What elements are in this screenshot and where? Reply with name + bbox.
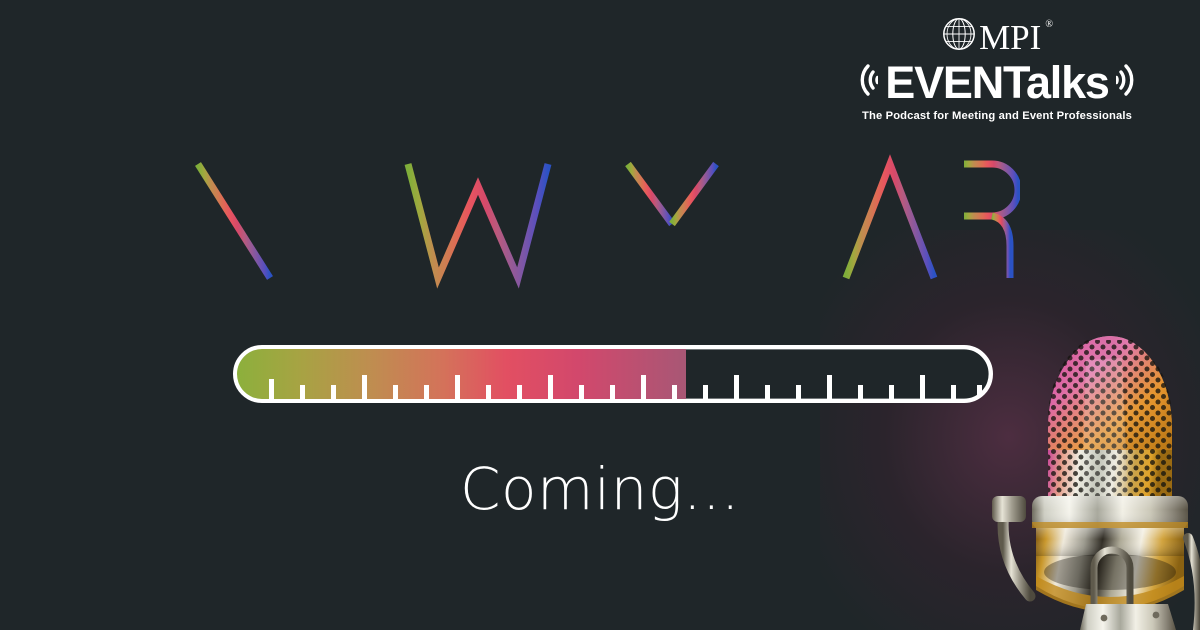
mpi-wordmark: MPI [979,20,1041,55]
sound-wave-left-icon [838,58,878,107]
status-text: Coming... [0,455,1200,523]
microphone-clip [1094,550,1130,612]
eventalks-row: EVENTalks [832,58,1162,107]
brand-lockup: MPI ® EVENTalks [832,16,1162,122]
headline-svg [180,150,1020,290]
eventalks-wordmark: EVENTalks [885,60,1108,105]
microphone-body [1036,528,1184,612]
microphone-right-arm [1188,538,1200,630]
sound-wave-right-icon [1116,58,1156,107]
mpi-globe-icon [942,17,976,56]
mpi-logo: MPI ® [832,16,1162,56]
promo-banner: MPI ® EVENTalks [0,0,1200,630]
microphone-glow [820,230,1200,630]
microphone-mount-plate [1080,604,1176,630]
page-title [0,150,1200,290]
progress-bar[interactable] [233,345,993,403]
podcast-tagline: The Podcast for Meeting and Event Profes… [832,110,1162,122]
mpi-trademark: ® [1045,19,1053,30]
